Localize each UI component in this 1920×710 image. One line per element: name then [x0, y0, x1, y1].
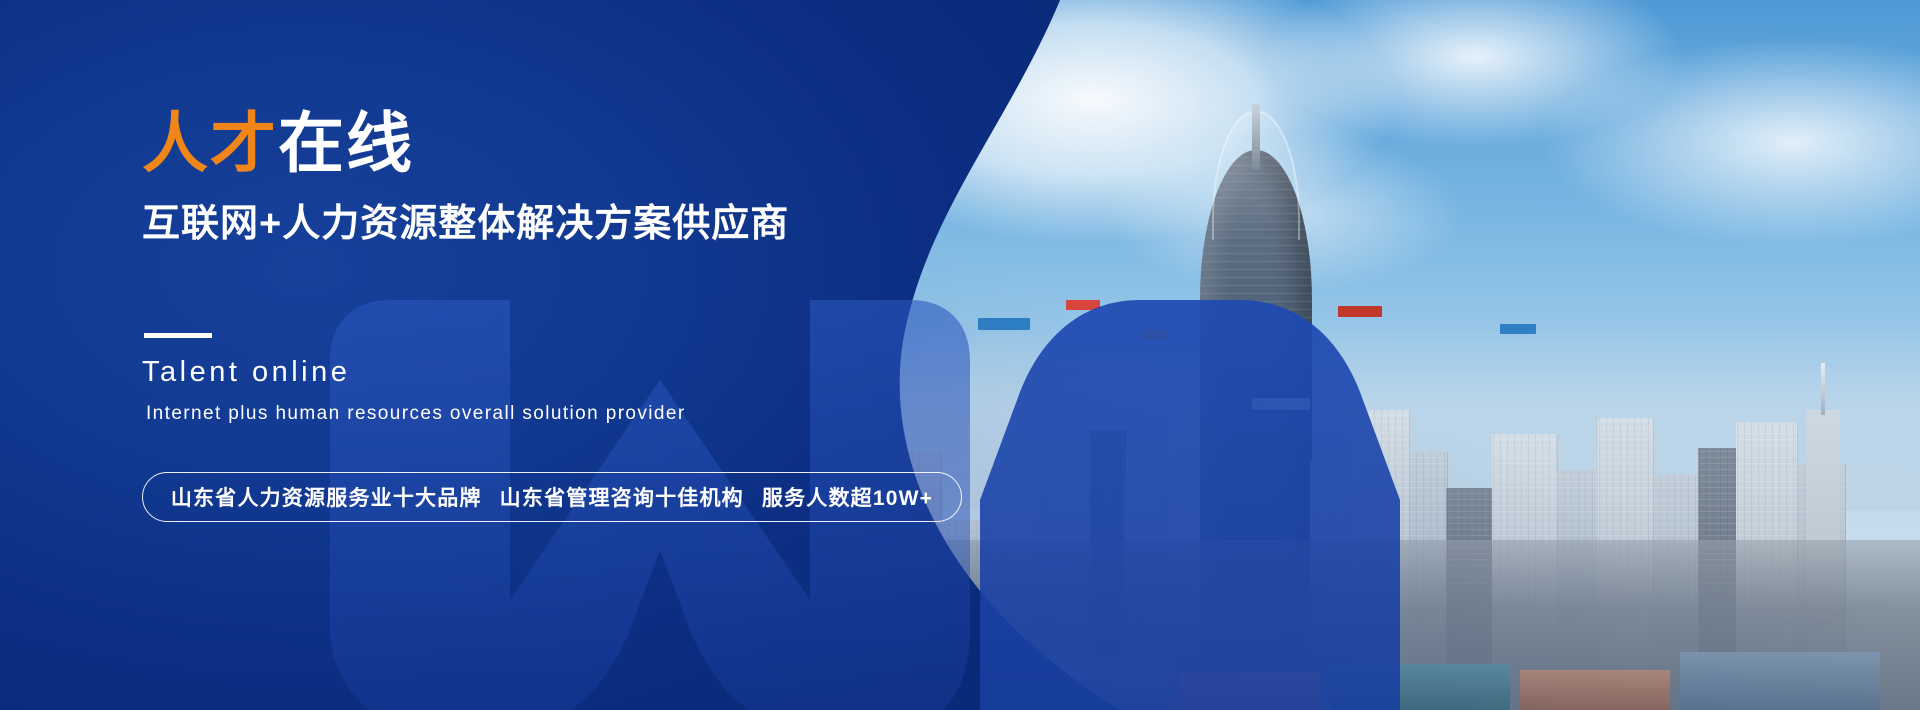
rooftop [1520, 670, 1670, 710]
badge-item-2: 山东省管理咨询十佳机构 [500, 482, 744, 512]
title-rest-text: 在线 [278, 106, 414, 180]
description-english: Internet plus human resources overall so… [146, 403, 686, 425]
page-title: 人才在线 [142, 108, 414, 179]
chevron-watermark-right [980, 300, 1400, 710]
hero-banner: 人才在线 互联网+人力资源整体解决方案供应商 Talent online Int… [0, 0, 1920, 710]
rooftop [1680, 652, 1880, 710]
banner-content: 人才在线 互联网+人力资源整体解决方案供应商 Talent online Int… [142, 0, 1042, 710]
title-accent-text: 人才 [142, 106, 278, 180]
tower-spire [1252, 104, 1260, 170]
badge-item-1: 山东省人力资源服务业十大品牌 [171, 482, 482, 512]
right-antenna [1821, 363, 1825, 415]
signage [1500, 324, 1536, 334]
badge-pill: 山东省人力资源服务业十大品牌 山东省管理咨询十佳机构 服务人数超10W+ [142, 472, 962, 522]
banner-subtitle: 互联网+人力资源整体解决方案供应商 [142, 192, 789, 247]
badge-item-3: 服务人数超10W+ [762, 482, 933, 512]
divider-rule [144, 333, 212, 338]
tagline-english: Talent online [142, 356, 350, 389]
signage [1066, 300, 1100, 310]
signage [1338, 306, 1382, 317]
